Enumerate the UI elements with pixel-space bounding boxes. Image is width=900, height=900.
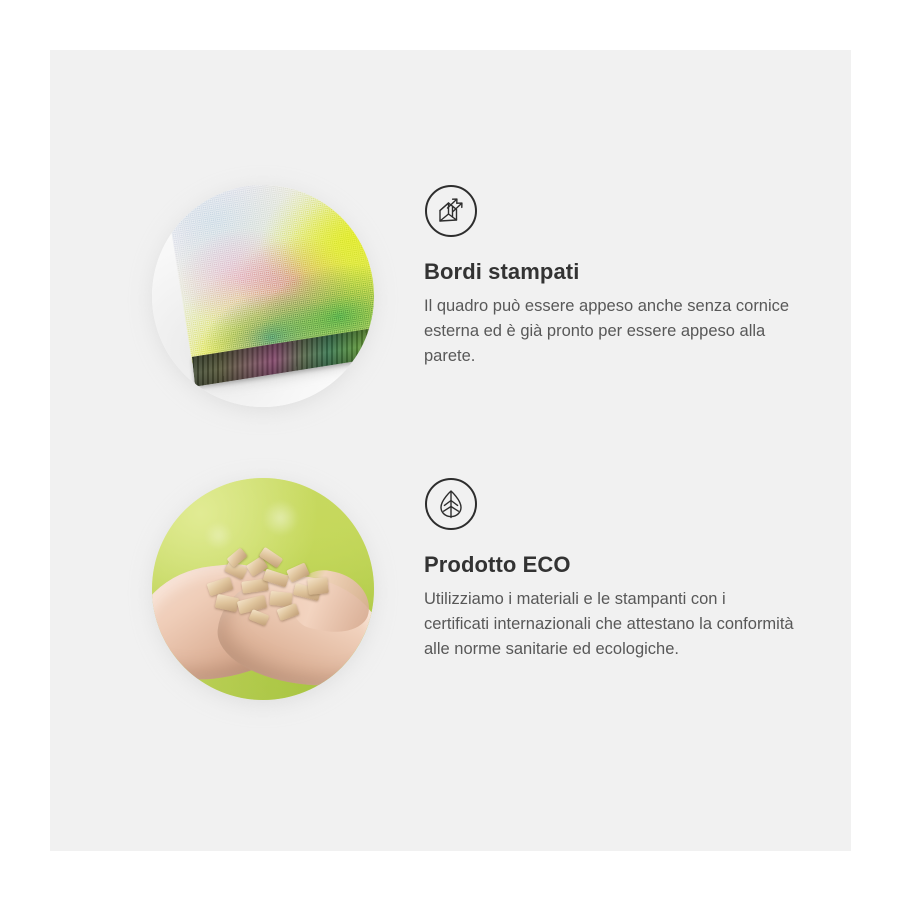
feature-text-column: Bordi stampati Il quadro può essere appe…	[424, 185, 814, 369]
product-info-page: Bordi stampati Il quadro può essere appe…	[0, 0, 900, 900]
feature-text-column: Prodotto ECO Utilizziamo i materiali e l…	[424, 478, 814, 662]
feature-description: Utilizziamo i materiali e le stampanti c…	[424, 587, 794, 662]
content-panel: Bordi stampati Il quadro può essere appe…	[50, 50, 851, 851]
feature-title: Prodotto ECO	[424, 552, 814, 578]
wood-chips	[204, 550, 338, 630]
leaf-icon	[425, 478, 477, 530]
canvas-printed-edge-photo	[152, 185, 374, 407]
feature-description: Il quadro può essere appeso anche senza …	[424, 294, 794, 369]
printed-edges-icon	[425, 185, 477, 237]
eco-wood-chips-photo	[152, 478, 374, 700]
photo-circle	[152, 185, 374, 407]
canvas-object	[165, 185, 374, 400]
photo-circle	[152, 478, 374, 700]
feature-title: Bordi stampati	[424, 259, 814, 285]
